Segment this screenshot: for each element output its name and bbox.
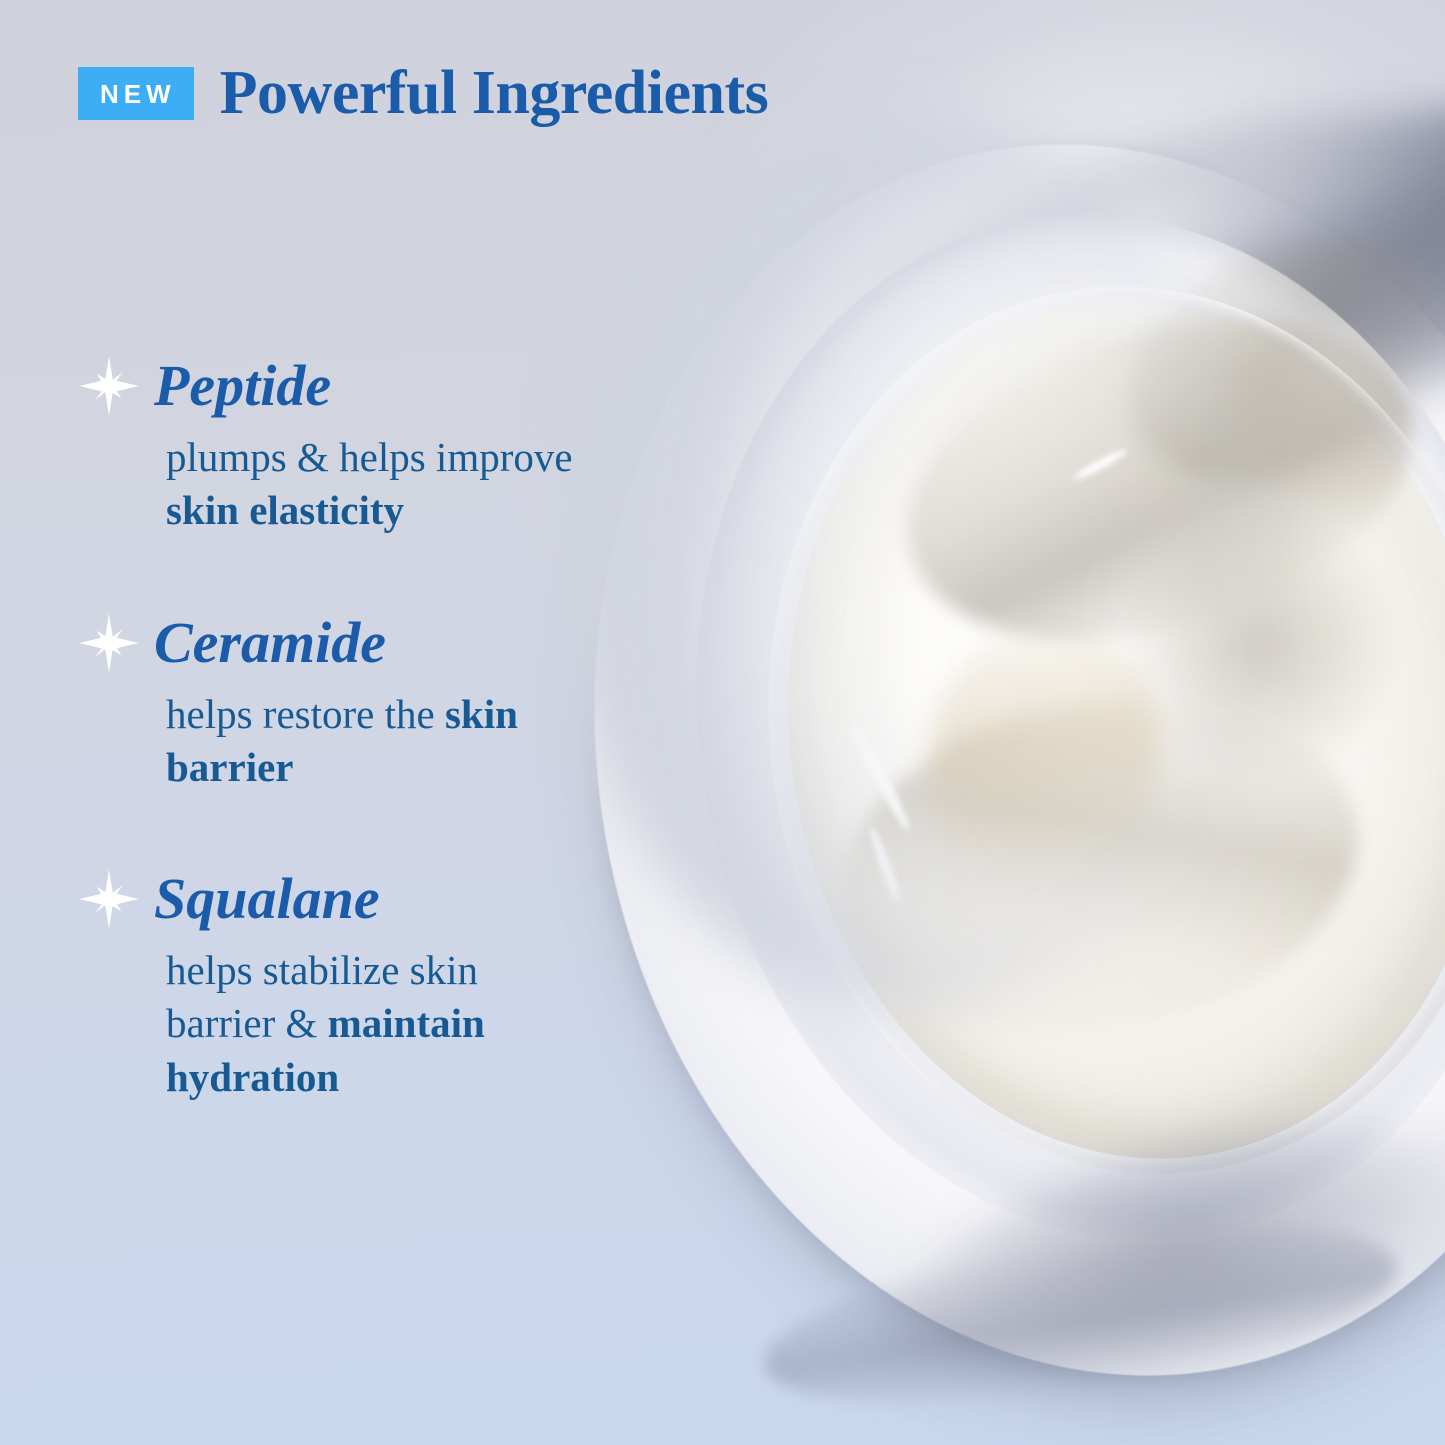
sparkle-star-icon: [78, 868, 140, 930]
ingredient-description: helps stabilize skin barrier & maintain …: [166, 944, 596, 1104]
ingredient-description-bold: skin elasticity: [166, 487, 404, 533]
ingredient-description-plain: plumps & helps improve: [166, 434, 573, 480]
ingredient-poster: NEW Powerful Ingredients Peptide plumps …: [0, 0, 1445, 1445]
ingredient-description-plain: helps restore the: [166, 691, 435, 737]
ingredient-name: Ceramide: [154, 614, 386, 672]
ingredient-description: helps restore the skin barrier: [166, 688, 596, 795]
ingredient-heading-row: Ceramide: [78, 612, 698, 674]
ingredient-heading-row: Peptide: [78, 355, 698, 417]
ingredient-heading-row: Squalane: [78, 868, 698, 930]
sparkle-star-icon: [78, 355, 140, 417]
page-title: Powerful Ingredients: [220, 62, 769, 124]
ingredient-list: Peptide plumps & helps improve skin elas…: [78, 355, 698, 1178]
header: NEW Powerful Ingredients: [78, 62, 768, 124]
text-content: NEW Powerful Ingredients Peptide plumps …: [0, 0, 1445, 1445]
ingredient-item-squalane: Squalane helps stabilize skin barrier & …: [78, 868, 698, 1104]
ingredient-item-peptide: Peptide plumps & helps improve skin elas…: [78, 355, 698, 538]
ingredient-name: Peptide: [154, 357, 331, 415]
ingredient-description: plumps & helps improve skin elasticity: [166, 431, 596, 538]
new-badge: NEW: [78, 67, 194, 120]
ingredient-name: Squalane: [154, 870, 380, 928]
sparkle-star-icon: [78, 612, 140, 674]
ingredient-item-ceramide: Ceramide helps restore the skin barrier: [78, 612, 698, 795]
